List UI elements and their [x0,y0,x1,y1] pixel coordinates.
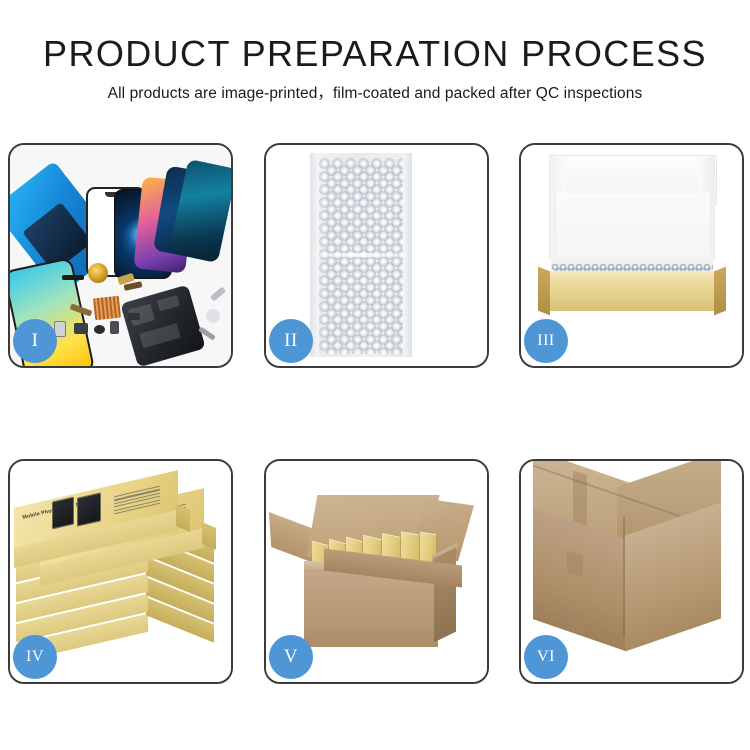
screw-washer-part [206,309,220,323]
carton-front-edge [623,517,625,637]
speaker-part [94,325,105,334]
connector-grid-part [93,296,121,321]
process-step-grid: I II [0,0,750,750]
white-box-back-wall [555,193,711,265]
step-badge-1: I [13,319,57,363]
step-numeral-5: V [284,646,298,668]
step-badge-6: VI [524,635,568,679]
step-badge-4: IV [13,635,57,679]
step-card-1: I [8,143,233,368]
kraft-box-right-corner [714,267,726,316]
step-numeral-1: I [32,330,39,352]
step-card-3: III [519,143,744,368]
camera-module-part [74,323,88,334]
bubble-pattern-layer-b [325,164,405,354]
box-screen-print-top-2 [77,492,101,527]
product-preparation-process-page: PRODUCT PREPARATION PROCESS All products… [0,0,750,750]
step-card-2: II [264,143,489,368]
step-card-5: V [264,459,489,684]
step-badge-3: III [524,319,568,363]
step-badge-2: II [269,319,313,363]
step-numeral-2: II [284,330,298,352]
step-numeral-6: VI [537,648,555,666]
kraft-box-front [545,277,719,311]
step-card-4: Mobile Phone Spare Parts Mobile Phone Sp… [8,459,233,684]
pouch-center-seam [312,253,408,257]
box-screen-print-top-1 [52,496,74,529]
step-badge-5: V [269,635,313,679]
kraft-box-left-corner [538,267,550,316]
step-card-6: VI [519,459,744,684]
step-numeral-4: IV [26,648,44,666]
copper-coil-part [88,263,108,283]
step-numeral-3: III [537,332,554,350]
earpiece-part [62,275,84,280]
charging-port-part [128,313,140,320]
vibrator-part [110,321,119,334]
